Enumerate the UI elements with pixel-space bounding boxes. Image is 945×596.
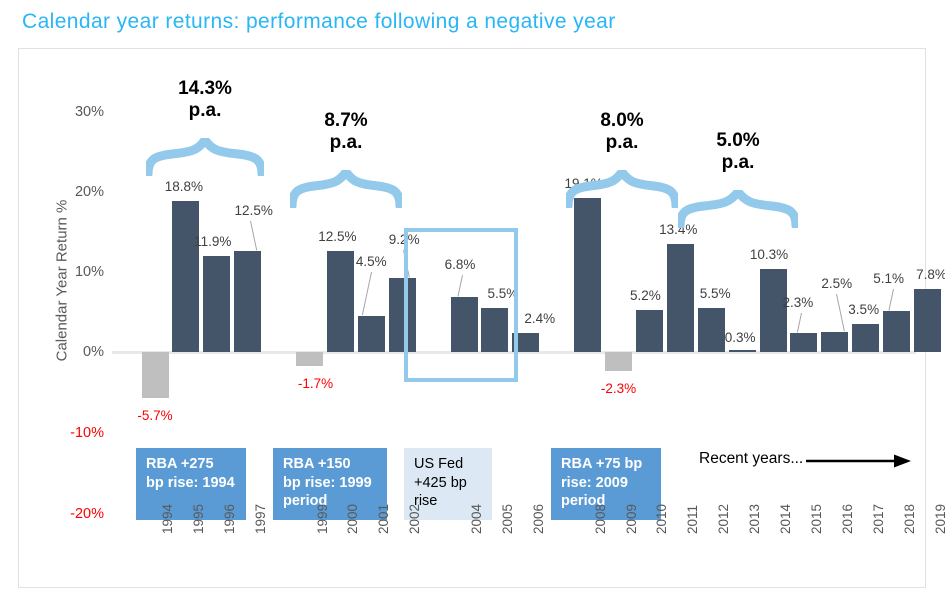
- leader-line-1997: [250, 221, 258, 251]
- y-tick-neg10: -10%: [58, 425, 104, 441]
- x-label-2001: 2001: [376, 504, 391, 534]
- x-label-2019: 2019: [933, 504, 945, 534]
- value-label-2012: 5.5%: [700, 286, 731, 301]
- value-label-2019: 7.8%: [916, 267, 945, 282]
- value-label-1996: 11.9%: [194, 234, 231, 249]
- y-axis-ticks: 30% 20% 10% 0% -10% -20%: [42, 0, 104, 596]
- bar-2010[interactable]: [636, 310, 663, 352]
- recent-years-label: Recent years...: [699, 450, 803, 468]
- bar-2012[interactable]: [698, 308, 725, 352]
- pa-value-2: 8.7%: [324, 110, 367, 132]
- us-fed-highlight-box: [404, 228, 518, 382]
- leader-line-2015: [797, 313, 803, 333]
- x-label-2010: 2010: [654, 504, 669, 534]
- value-label-1997: 12.5%: [235, 203, 273, 218]
- bar-2011[interactable]: [667, 244, 694, 352]
- brace-1999-period: [290, 170, 402, 208]
- value-label-2017: 3.5%: [848, 302, 879, 317]
- pa-label-4: 5.0% p.a.: [716, 130, 759, 173]
- bar-2019[interactable]: [914, 289, 941, 352]
- bar-2018[interactable]: [883, 311, 910, 352]
- bar-2001[interactable]: [358, 316, 385, 352]
- y-tick-20: 20%: [58, 184, 104, 200]
- bar-2015[interactable]: [790, 333, 817, 352]
- bar-2017[interactable]: [852, 324, 879, 352]
- brace-2009-period: [566, 170, 678, 208]
- value-label-2001: 4.5%: [356, 254, 387, 269]
- value-label-2009: -2.3%: [601, 381, 636, 396]
- value-label-2018: 5.1%: [873, 271, 904, 286]
- value-label-2016: 2.5%: [821, 276, 852, 291]
- x-label-2009: 2009: [624, 504, 639, 534]
- pa-unit-1: p.a.: [178, 100, 232, 122]
- bar-1995[interactable]: [172, 201, 199, 352]
- value-label-2015: 2.3%: [783, 295, 814, 310]
- bar-2000[interactable]: [327, 251, 354, 352]
- y-tick-30: 30%: [58, 104, 104, 120]
- bar-1997[interactable]: [234, 251, 261, 352]
- value-label-1995: 18.8%: [165, 179, 203, 194]
- bar-1996[interactable]: [203, 256, 230, 352]
- value-label-2010: 5.2%: [630, 288, 661, 303]
- chart-root: Calendar year returns: performance follo…: [0, 0, 945, 596]
- leader-line-2018: [888, 289, 894, 311]
- bar-2016[interactable]: [821, 332, 848, 352]
- bar-2008[interactable]: [574, 198, 601, 352]
- x-label-1995: 1995: [191, 504, 206, 534]
- x-label-2012: 2012: [716, 504, 731, 534]
- value-label-2014: 10.3%: [750, 247, 788, 262]
- bar-1994[interactable]: [142, 352, 169, 398]
- bar-2013[interactable]: [729, 350, 756, 352]
- pa-label-2: 8.7% p.a.: [324, 110, 367, 153]
- leader-line-2001: [362, 272, 373, 315]
- leader-line-2016: [836, 294, 845, 331]
- x-label-1994: 1994: [160, 504, 175, 534]
- pa-value-1: 14.3%: [178, 78, 232, 100]
- x-label-2004: 2004: [469, 504, 484, 534]
- bar-2014[interactable]: [760, 269, 787, 352]
- x-label-2005: 2005: [500, 504, 515, 534]
- x-label-2016: 2016: [840, 504, 855, 534]
- pa-unit-4: p.a.: [716, 152, 759, 174]
- x-label-2002: 2002: [407, 504, 422, 534]
- y-tick-neg20: -20%: [58, 506, 104, 522]
- pa-value-3: 8.0%: [600, 110, 643, 132]
- plot-area: Calendar Year Return % 30% 20% 10% 0% -1…: [0, 0, 945, 596]
- brace-recent-years: [678, 190, 798, 228]
- x-label-2006: 2006: [531, 504, 546, 534]
- value-label-1994: -5.7%: [137, 408, 172, 423]
- brace-1994-period: [146, 138, 264, 176]
- x-label-1996: 1996: [222, 504, 237, 534]
- value-label-2013: 0.3%: [725, 330, 756, 345]
- x-label-2008: 2008: [593, 504, 608, 534]
- pa-value-4: 5.0%: [716, 130, 759, 152]
- x-label-2015: 2015: [809, 504, 824, 534]
- bar-1999[interactable]: [296, 352, 323, 366]
- y-tick-0: 0%: [58, 344, 104, 360]
- pa-label-1: 14.3% p.a.: [178, 78, 232, 121]
- x-label-2018: 2018: [902, 504, 917, 534]
- pa-unit-2: p.a.: [324, 132, 367, 154]
- legend-box-rba-1999: RBA +150 bp rise: 1999 period: [273, 448, 387, 520]
- x-label-2013: 2013: [747, 504, 762, 534]
- x-label-2017: 2017: [871, 504, 886, 534]
- x-label-2000: 2000: [345, 504, 360, 534]
- bar-2009[interactable]: [605, 352, 632, 371]
- x-label-1997: 1997: [253, 504, 268, 534]
- pa-unit-3: p.a.: [600, 132, 643, 154]
- value-label-2006: 2.4%: [524, 311, 555, 326]
- x-label-2014: 2014: [778, 504, 793, 534]
- recent-years-arrow-icon: [806, 453, 912, 474]
- y-tick-10: 10%: [58, 264, 104, 280]
- pa-label-3: 8.0% p.a.: [600, 110, 643, 153]
- value-label-1999: -1.7%: [298, 376, 333, 391]
- x-label-1999: 1999: [315, 504, 330, 534]
- value-label-2000: 12.5%: [318, 229, 356, 244]
- x-label-2011: 2011: [685, 505, 700, 534]
